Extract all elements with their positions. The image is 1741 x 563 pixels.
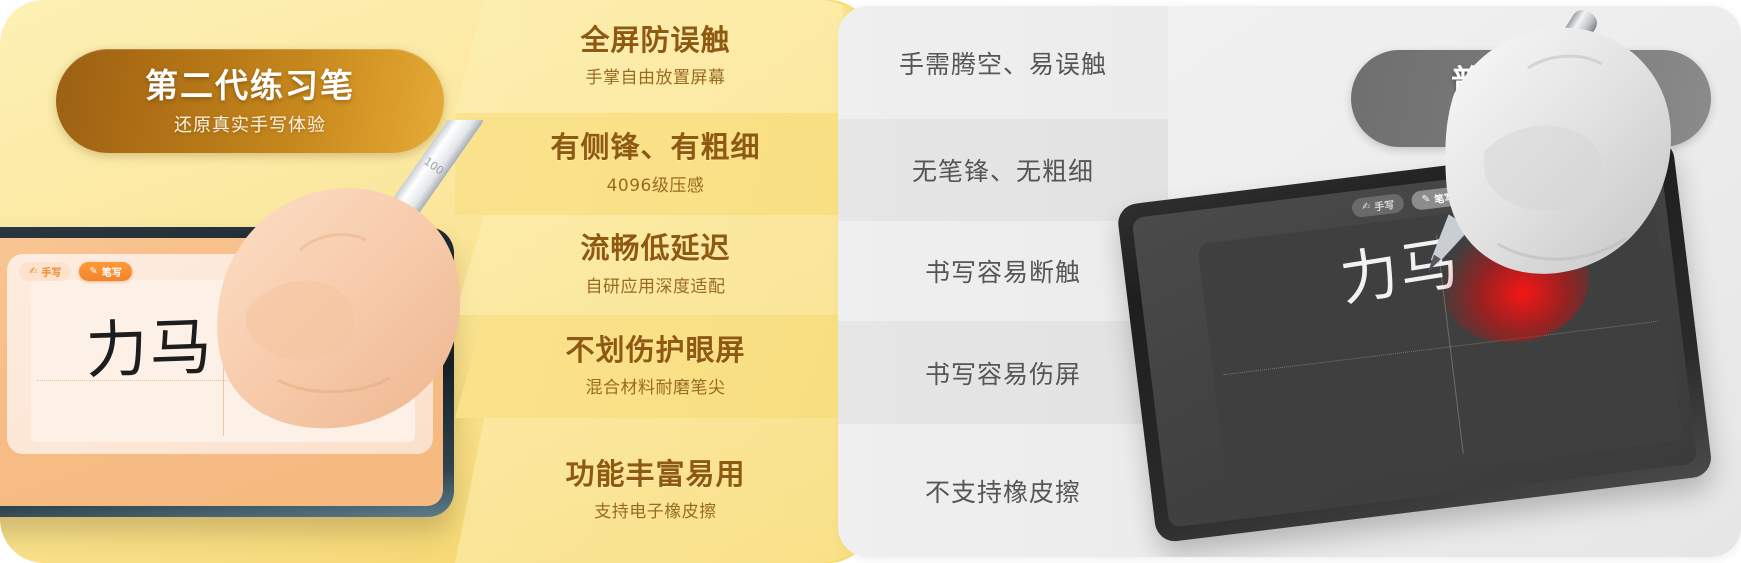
drawback-row: 无笔锋、无粗细 <box>838 119 1168 221</box>
mode-button-penwrite-left[interactable]: ✎ 笔写 <box>79 262 131 281</box>
feature-row: 有侧锋、有粗细 4096级压感 <box>455 113 872 215</box>
drawback-list-right: 手需腾空、易误触 无笔锋、无粗细 书写容易断触 书写容易伤屏 不支持橡皮擦 <box>838 6 1168 557</box>
left-panel-premium-pen: ✍ 手写 ✎ 笔写 力马 <box>0 0 872 563</box>
pen-icon: ✎ <box>89 267 97 277</box>
drawback-text: 书写容易断触 <box>925 253 1081 289</box>
feature-subtitle: 4096级压感 <box>607 171 705 196</box>
hand-icon: ✍ <box>29 267 37 277</box>
mode-label: 手写 <box>41 264 61 279</box>
feature-row: 全屏防误触 手掌自由放置屏幕 <box>455 0 872 113</box>
hand-illustration-right <box>1358 6 1698 356</box>
drawback-row: 书写容易断触 <box>838 221 1168 321</box>
drawback-row: 手需腾空、易误触 <box>838 6 1168 119</box>
feature-row: 流畅低延迟 自研应用深度适配 <box>455 215 872 315</box>
feature-subtitle: 混合材料耐磨笔尖 <box>586 373 726 398</box>
drawback-text: 不支持橡皮擦 <box>925 473 1081 509</box>
drawback-text: 手需腾空、易误触 <box>899 45 1107 81</box>
feature-row: 功能丰富易用 支持电子橡皮擦 <box>455 418 872 563</box>
feature-row: 不划伤护眼屏 混合材料耐磨笔尖 <box>455 315 872 418</box>
feature-subtitle: 自研应用深度适配 <box>586 272 726 297</box>
drawback-text: 书写容易伤屏 <box>925 355 1081 391</box>
comparison-banner: ✍ 手写 ✎ 笔写 力马 <box>0 0 1741 563</box>
drawback-row: 书写容易伤屏 <box>838 321 1168 424</box>
writing-mode-toolbar-left[interactable]: ✍ 手写 ✎ 笔写 <box>19 262 132 281</box>
feature-list-left: 全屏防误触 手掌自由放置屏幕 有侧锋、有粗细 4096级压感 流畅低延迟 自研应… <box>455 0 872 563</box>
feature-title: 流畅低延迟 <box>580 233 730 265</box>
feature-title: 不划伤护眼屏 <box>565 335 745 367</box>
drawback-row: 不支持橡皮擦 <box>838 424 1168 557</box>
right-panel-ordinary-pen: 手需腾空、易误触 无笔锋、无粗细 书写容易断触 书写容易伤屏 不支持橡皮擦 <box>838 6 1741 557</box>
feature-title: 全屏防误触 <box>580 25 730 57</box>
feature-title: 功能丰富易用 <box>565 459 745 491</box>
drawback-text: 无笔锋、无粗细 <box>912 152 1094 188</box>
mode-button-handwrite-left[interactable]: ✍ 手写 <box>19 262 71 281</box>
mode-label: 笔写 <box>102 264 122 279</box>
feature-subtitle: 手掌自由放置屏幕 <box>586 63 726 88</box>
badge-title: 第二代练习笔 <box>145 69 355 104</box>
hand-illustration-left <box>150 130 480 460</box>
feature-subtitle: 支持电子橡皮擦 <box>594 497 717 522</box>
feature-title: 有侧锋、有粗细 <box>550 132 760 164</box>
